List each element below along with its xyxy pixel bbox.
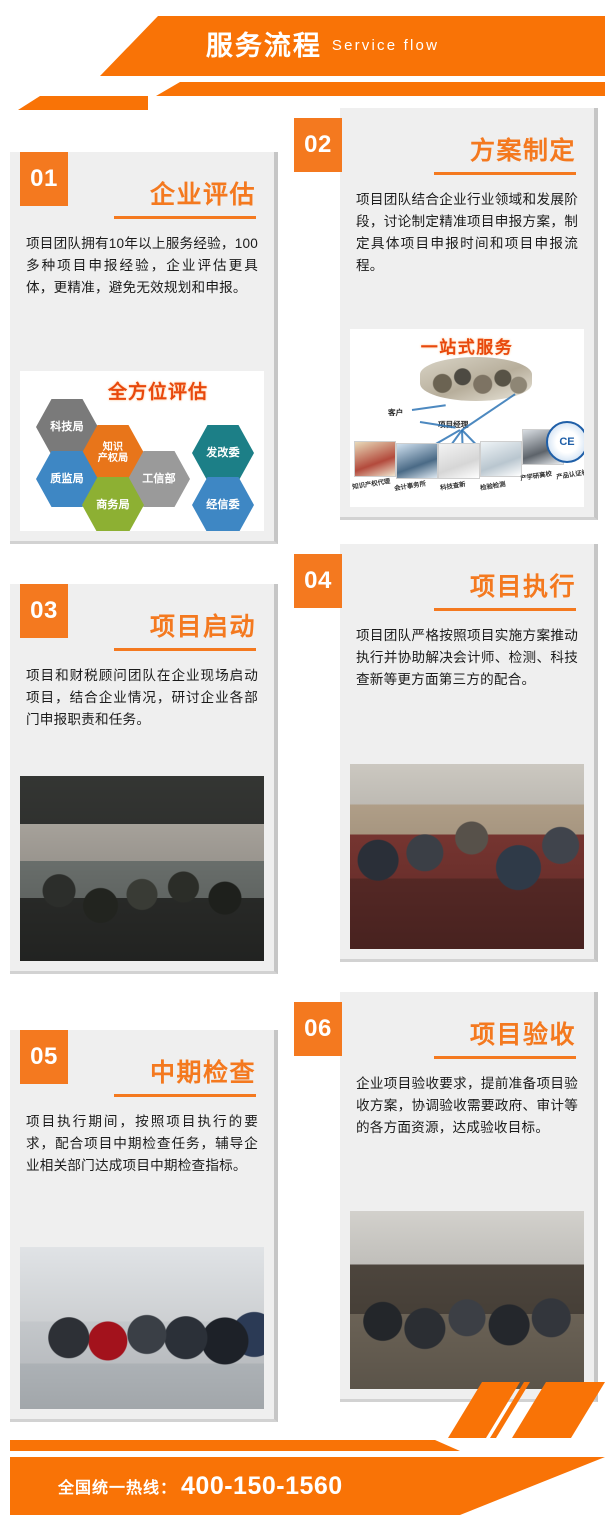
photo-working-session <box>350 764 584 949</box>
page-title: 服务流程 <box>206 33 322 60</box>
title-underline-03 <box>114 648 256 651</box>
figure-photo-05 <box>20 1247 264 1409</box>
footer-bar-stripe <box>10 1440 605 1451</box>
header-title-group: 服务流程 Service flow <box>0 16 605 76</box>
service-thumb-3 <box>438 443 480 479</box>
hotline-label: 全国统一热线： <box>58 1474 177 1498</box>
card-title-01: 企业评估 <box>150 182 256 210</box>
card-title-06: 项目验收 <box>470 1022 576 1050</box>
service-thumb-1 <box>354 441 396 477</box>
hex-node-jingxin: 经信委 <box>192 477 254 531</box>
service-flow-infographic: 服务流程 Service flow 01 企业评估 项目团队拥有10年以上服务经… <box>0 0 605 1538</box>
title-underline-04 <box>434 608 576 611</box>
service-certification-seal: CE <box>546 421 584 463</box>
card-body-02: 项目团队结合企业行业领域和发展阶段，讨论制定精准项目申报方案，制定具体项目申报时… <box>356 189 578 277</box>
service-node-customer: 客户 <box>388 407 403 418</box>
card-header-04: 项目执行 <box>340 544 594 611</box>
figure-photo-04 <box>350 764 584 949</box>
figure-hex-diagram: 全方位评估 科技局 知识 产权局 质监局 工信部 商务局 发改委 经信委 <box>20 371 264 531</box>
card-body-03: 项目和财税顾问团队在企业现场启动项目，结合企业情况，研讨企业各部门申报职责和任务… <box>26 665 258 731</box>
step-number-badge-05: 05 <box>20 1030 68 1084</box>
photo-site-visit <box>20 1247 264 1409</box>
card-title-05: 中期检查 <box>150 1060 256 1088</box>
card-body-04: 项目团队严格按照项目实施方案推动执行并协助解决会计师、检测、科技查新等更方面第三… <box>356 625 578 691</box>
step-number-badge-02: 02 <box>294 118 342 172</box>
step-card-06[interactable]: 06 项目验收 企业项目验收要求，提前准备项目验收方案，协调验收需要政府、审计等… <box>340 992 598 1402</box>
card-title-04: 项目执行 <box>470 574 576 602</box>
service-caption-4: 检验检测 <box>479 479 506 492</box>
card-title-03: 项目启动 <box>150 614 256 642</box>
service-thumb-4 <box>480 441 522 477</box>
service-caption-5: 产学研高校 <box>519 469 552 483</box>
card-body-05: 项目执行期间，按照项目执行的要求，配合项目中期检查任务，辅导企业相关部门达成项目… <box>26 1111 258 1177</box>
hex-node-fagai: 发改委 <box>192 425 254 481</box>
hex-diagram-title: 全方位评估 <box>108 377 208 404</box>
step-card-05[interactable]: 05 中期检查 项目执行期间，按照项目执行的要求，配合项目中期检查任务，辅导企业… <box>10 1030 278 1422</box>
card-header-02: 方案制定 <box>340 108 594 175</box>
header-wedge <box>18 96 148 110</box>
service-thumb-2 <box>396 443 438 479</box>
figure-service-diagram: 一站式服务 客户 项目经理 CE <box>350 329 584 507</box>
step-number-badge-06: 06 <box>294 1002 342 1056</box>
step-card-02[interactable]: 02 方案制定 项目团队结合企业行业领域和发展阶段，讨论制定精准项目申报方案，制… <box>340 108 598 520</box>
title-underline-02 <box>434 172 576 175</box>
hotline-number[interactable]: 400-150-1560 <box>181 1472 343 1501</box>
service-diagram-title: 一站式服务 <box>421 333 514 358</box>
card-body-06: 企业项目验收要求，提前准备项目验收方案，协调验收需要政府、审计等的各方面资源，达… <box>356 1073 578 1139</box>
title-underline-05 <box>114 1094 256 1097</box>
step-number-badge-03: 03 <box>20 584 68 638</box>
card-body-01: 项目团队拥有10年以上服务经验，100多种项目申报经验，企业评估更具体，更精准，… <box>26 233 258 299</box>
step-card-01[interactable]: 01 企业评估 项目团队拥有10年以上服务经验，100多种项目申报经验，企业评估… <box>10 152 278 544</box>
header-banner: 服务流程 Service flow <box>0 0 605 108</box>
footer-banner: 全国统一热线： 400-150-1560 <box>0 1432 605 1538</box>
step-number-badge-01: 01 <box>20 152 68 206</box>
card-title-02: 方案制定 <box>470 138 576 166</box>
service-caption-2: 会计事务所 <box>393 479 426 493</box>
service-caption-6: 产品认证机构 <box>556 466 584 481</box>
photo-meeting-room <box>20 776 264 961</box>
service-caption-3: 科技查新 <box>439 479 466 492</box>
service-caption-1: 知识产权代理 <box>352 476 391 491</box>
page-subtitle: Service flow <box>332 38 439 54</box>
header-bar-stripe <box>0 82 605 96</box>
figure-photo-03 <box>20 776 264 961</box>
card-header-06: 项目验收 <box>340 992 594 1059</box>
photo-acceptance-meeting <box>350 1211 584 1389</box>
service-arrow-1 <box>412 404 446 411</box>
step-card-04[interactable]: 04 项目执行 项目团队严格按照项目实施方案推动执行并协助解决会计师、检测、科技… <box>340 544 598 962</box>
step-card-03[interactable]: 03 项目启动 项目和财税顾问团队在企业现场启动项目，结合企业情况，研讨企业各部… <box>10 584 278 974</box>
title-underline-01 <box>114 216 256 219</box>
footer-hotline-group: 全国统一热线： 400-150-1560 <box>58 1457 343 1515</box>
title-underline-06 <box>434 1056 576 1059</box>
step-number-badge-04: 04 <box>294 554 342 608</box>
figure-photo-06 <box>350 1211 584 1389</box>
